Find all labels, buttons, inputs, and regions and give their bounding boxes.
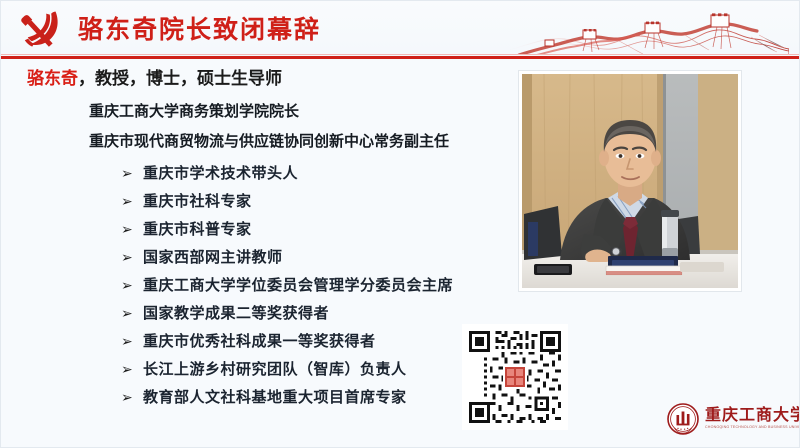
hammer-and-sickle-icon bbox=[19, 8, 65, 50]
qr-code[interactable] bbox=[466, 328, 564, 426]
qr-code-container[interactable] bbox=[462, 324, 568, 430]
list-item-label: 国家西部网主讲教师 bbox=[143, 244, 283, 272]
qr-center-logo-icon bbox=[503, 365, 527, 389]
speaker-title-1: 重庆工商大学商务策划学院院长 bbox=[89, 101, 299, 123]
page-title: 骆东奇院长致闭幕辞 bbox=[78, 14, 321, 46]
university-seal-icon bbox=[667, 403, 699, 435]
header-rule bbox=[1, 56, 800, 59]
arrow-bullet-icon: ➢ bbox=[121, 299, 143, 327]
university-name-en: CHONGQING TECHNOLOGY AND BUSINESS UNIVER… bbox=[705, 426, 800, 430]
arrow-bullet-icon: ➢ bbox=[121, 243, 143, 271]
list-item: ➢ 重庆市学术技术带头人 bbox=[121, 159, 551, 187]
arrow-bullet-icon: ➢ bbox=[121, 271, 143, 299]
speaker-name-line: 骆东奇，教授，博士，硕士生导师 bbox=[27, 67, 282, 91]
speaker-photo-frame bbox=[519, 71, 741, 291]
list-item-label: 长江上游乡村研究团队（智库）负责人 bbox=[143, 356, 407, 384]
speaker-name: 骆东奇 bbox=[27, 69, 78, 88]
slide-header: 骆东奇院长致闭幕辞 bbox=[1, 1, 800, 58]
list-item-label: 重庆市优秀社科成果一等奖获得者 bbox=[143, 328, 376, 356]
great-wall-illustration-icon bbox=[459, 5, 789, 55]
list-item-label: 国家教学成果二等奖获得者 bbox=[143, 300, 329, 328]
list-item: ➢ 重庆市科普专家 bbox=[121, 215, 551, 243]
speaker-photo-image bbox=[522, 74, 738, 288]
arrow-bullet-icon: ➢ bbox=[121, 355, 143, 383]
arrow-bullet-icon: ➢ bbox=[121, 215, 143, 243]
list-item: ➢ 重庆工商大学学位委员会管理学分委员会主席 bbox=[121, 271, 551, 299]
speaker-title-2: 重庆市现代商贸物流与供应链协同创新中心常务副主任 bbox=[89, 131, 449, 153]
list-item: ➢ 国家西部网主讲教师 bbox=[121, 243, 551, 271]
list-item: ➢ 国家教学成果二等奖获得者 bbox=[121, 299, 551, 327]
list-item: ➢ 重庆市社科专家 bbox=[121, 187, 551, 215]
list-item-label: 教育部人文社科基地重大项目首席专家 bbox=[143, 384, 407, 412]
list-item-label: 重庆市学术技术带头人 bbox=[143, 160, 298, 188]
university-logo: 重庆工商大学 CHONGQING TECHNOLOGY AND BUSINESS… bbox=[667, 399, 791, 439]
speaker-photo bbox=[522, 74, 738, 288]
arrow-bullet-icon: ➢ bbox=[121, 187, 143, 215]
speaker-credentials: ，教授，博士，硕士生导师 bbox=[78, 69, 282, 88]
list-item-label: 重庆市科普专家 bbox=[143, 216, 252, 244]
header-rule-highlight bbox=[1, 54, 800, 55]
slide: 骆东奇院长致闭幕辞 骆东奇，教授，博士，硕士生导师 重庆工商大学商务策划学院院长… bbox=[0, 0, 800, 448]
university-name-cn: 重庆工商大学 bbox=[705, 408, 800, 424]
arrow-bullet-icon: ➢ bbox=[121, 327, 143, 355]
list-item-label: 重庆市社科专家 bbox=[143, 188, 252, 216]
arrow-bullet-icon: ➢ bbox=[121, 159, 143, 187]
list-item-label: 重庆工商大学学位委员会管理学分委员会主席 bbox=[143, 272, 453, 300]
arrow-bullet-icon: ➢ bbox=[121, 383, 143, 411]
